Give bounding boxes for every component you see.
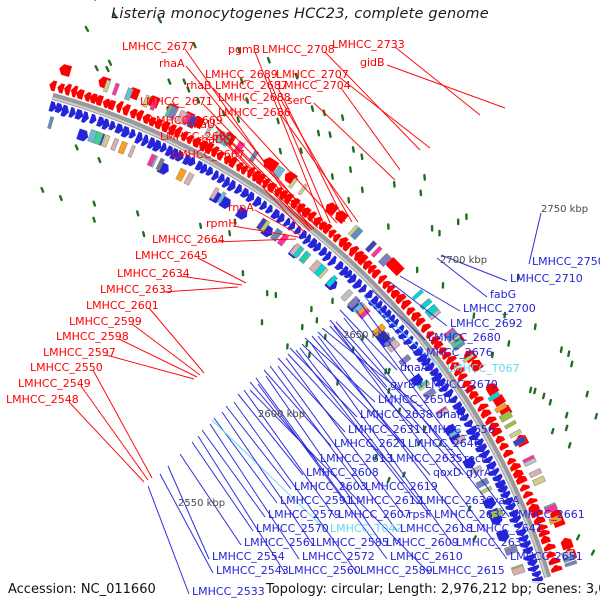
ruler-tick-label: 2700 kbp bbox=[440, 255, 487, 266]
gene-label[interactable]: LMHCC_2634 bbox=[117, 268, 190, 279]
accession-text: Accession: NC_011660 bbox=[6, 581, 158, 598]
ruler-tick-label: 2550 kbp bbox=[178, 498, 225, 509]
gene-label[interactable]: LMHCC_2591 bbox=[280, 495, 353, 506]
gene-label[interactable]: rpmH bbox=[206, 218, 237, 229]
gene-label[interactable]: LMHCC_2704 bbox=[278, 80, 351, 91]
gene-label[interactable]: LMHCC_2579 bbox=[268, 509, 341, 520]
genome-metadata-text: Topology: circular; Length: 2,976,212 bp… bbox=[264, 581, 600, 598]
gene-label[interactable]: LMHCC_2670 bbox=[425, 379, 498, 390]
gene-label[interactable]: LMHCC_2633 bbox=[100, 284, 173, 295]
gene-label[interactable]: serC bbox=[287, 95, 312, 106]
gene-label[interactable]: rhaB bbox=[186, 80, 212, 91]
gene-label[interactable]: LMHCC_2638 bbox=[360, 409, 433, 420]
gene-label[interactable]: recF bbox=[464, 453, 487, 464]
gene-label[interactable]: LMHCC_2641 bbox=[470, 523, 543, 534]
gene-label[interactable]: LMHCC_2533 bbox=[192, 586, 265, 597]
gene-label[interactable]: LMHCC_2549 bbox=[18, 378, 91, 389]
gene-label[interactable]: LMHCC_2651 bbox=[510, 551, 583, 562]
gene-label[interactable]: LMHCC_2621 bbox=[334, 438, 407, 449]
gene-label[interactable]: rhaA bbox=[159, 58, 185, 69]
gene-label[interactable]: LMHCC_2610 bbox=[390, 551, 463, 562]
gene-label[interactable]: LMHCC_2637 bbox=[456, 537, 529, 548]
gene-label[interactable]: LMHCC_2687 bbox=[215, 80, 288, 91]
gene-label[interactable]: rhaD bbox=[197, 134, 224, 145]
gene-label[interactable]: LMHCC_2700 bbox=[463, 303, 536, 314]
gene-label[interactable]: LMHCC_2543 bbox=[216, 565, 289, 576]
gene-label[interactable]: qoxD bbox=[433, 467, 461, 478]
ruler-tick-label: 2650 kbp bbox=[343, 330, 390, 341]
gene-label[interactable]: LMHCC_2677 bbox=[122, 41, 195, 52]
gene-label[interactable]: LMHCC_2615 bbox=[432, 565, 505, 576]
gene-label[interactable]: LMHCC_2548 bbox=[6, 394, 79, 405]
gene-label[interactable]: LMHCC_2561 bbox=[244, 537, 317, 548]
gene-label[interactable]: gidB bbox=[360, 57, 385, 68]
gene-label[interactable]: LMHCC_2612 bbox=[350, 495, 423, 506]
gene-label[interactable]: LMHCC_2554 bbox=[212, 551, 285, 562]
gene-label[interactable]: LMHCC_2589 bbox=[360, 565, 433, 576]
gene-label[interactable]: LMHCC_2570 bbox=[256, 523, 329, 534]
gene-label[interactable]: LMHCC_2585 bbox=[316, 537, 389, 548]
genome-map-viewer: Listeria monocytogenes HCC23, complete g… bbox=[0, 0, 600, 600]
gene-label[interactable]: LMHCC_2619 bbox=[365, 481, 438, 492]
gene-label[interactable]: LMHCC_2613 bbox=[320, 453, 393, 464]
gene-label[interactable]: LMHCC_2603 bbox=[294, 481, 367, 492]
gene-label[interactable]: LMHCC_2667 bbox=[172, 149, 245, 160]
page-title: Listeria monocytogenes HCC23, complete g… bbox=[0, 6, 600, 22]
gene-label[interactable]: LMHCC_2609 bbox=[386, 537, 459, 548]
gene-label[interactable]: LMHCC_2750 bbox=[532, 256, 600, 267]
gene-label[interactable]: LMHCC_2688 bbox=[218, 92, 291, 103]
gene-label[interactable]: LMHCC_2733 bbox=[332, 39, 405, 50]
gene-label[interactable]: LMHCC_2708 bbox=[262, 44, 335, 55]
gene-label[interactable]: LMHCC_2645 bbox=[135, 250, 208, 261]
gene-label[interactable]: LMHCC_2661 bbox=[512, 509, 585, 520]
gene-label[interactable]: LMHCC_T067 bbox=[447, 363, 519, 374]
gene-label[interactable]: dnaA bbox=[400, 362, 428, 373]
gene-label[interactable]: LMHCC_2671 bbox=[140, 96, 213, 107]
ruler-tick-label: 2600 kbp bbox=[258, 409, 305, 420]
ruler-tick-label: 2750 kbp bbox=[541, 204, 588, 215]
gene-label[interactable]: LMHCC_2599 bbox=[69, 316, 142, 327]
gene-label[interactable]: LMHCC_2680 bbox=[428, 332, 501, 343]
gene-label[interactable]: LMHCC_T042 bbox=[330, 523, 402, 534]
gene-label[interactable]: dnaN bbox=[436, 409, 465, 420]
gene-label[interactable]: LMHCC_2560 bbox=[288, 565, 361, 576]
gene-label[interactable]: LMHCC_2608 bbox=[306, 467, 379, 478]
gene-label[interactable]: LMHCC_2686 bbox=[218, 107, 291, 118]
gene-label[interactable]: LMHCC_2601 bbox=[86, 300, 159, 311]
gene-label[interactable]: LMHCC_2597 bbox=[43, 347, 116, 358]
gene-label[interactable]: LMHCC_2636 bbox=[420, 495, 493, 506]
gene-label[interactable]: gyrB bbox=[390, 379, 416, 390]
gene-label[interactable]: LMHCC_2646 bbox=[408, 438, 481, 449]
gene-label[interactable]: LMHCC_2632 bbox=[434, 509, 507, 520]
gene-label[interactable]: LMHCC_2635 bbox=[390, 453, 463, 464]
gene-label[interactable]: LMHCC_2572 bbox=[302, 551, 375, 562]
gene-label[interactable]: LMHCC_2607 bbox=[338, 509, 411, 520]
gene-label[interactable]: rnpA bbox=[228, 202, 254, 213]
gene-label[interactable]: gyrA bbox=[466, 467, 492, 478]
gene-label[interactable]: LMHCC_2650 bbox=[378, 394, 451, 405]
gene-label[interactable]: LMHCC_2618 bbox=[400, 523, 473, 534]
gene-label[interactable]: LMHCC_2598 bbox=[56, 331, 129, 342]
gene-label[interactable]: LMHCC_2550 bbox=[30, 362, 103, 373]
gene-label[interactable]: fabG bbox=[490, 289, 516, 300]
gene-label[interactable]: LMHCC_2656 bbox=[422, 424, 495, 435]
gene-label[interactable]: LMHCC_2692 bbox=[450, 318, 523, 329]
gene-label[interactable]: pgmB bbox=[228, 44, 260, 55]
gene-label[interactable]: yaaA bbox=[492, 495, 520, 506]
gene-label[interactable]: LMHCC_2710 bbox=[510, 273, 583, 284]
gene-label[interactable]: LMHCC_2631 bbox=[348, 424, 421, 435]
gene-label[interactable]: rpsF bbox=[408, 509, 432, 520]
gene-label[interactable]: LMHCC_2676 bbox=[420, 347, 493, 358]
gene-label[interactable]: LMHCC_2664 bbox=[152, 234, 225, 245]
gene-label[interactable]: rhaU bbox=[189, 119, 215, 130]
